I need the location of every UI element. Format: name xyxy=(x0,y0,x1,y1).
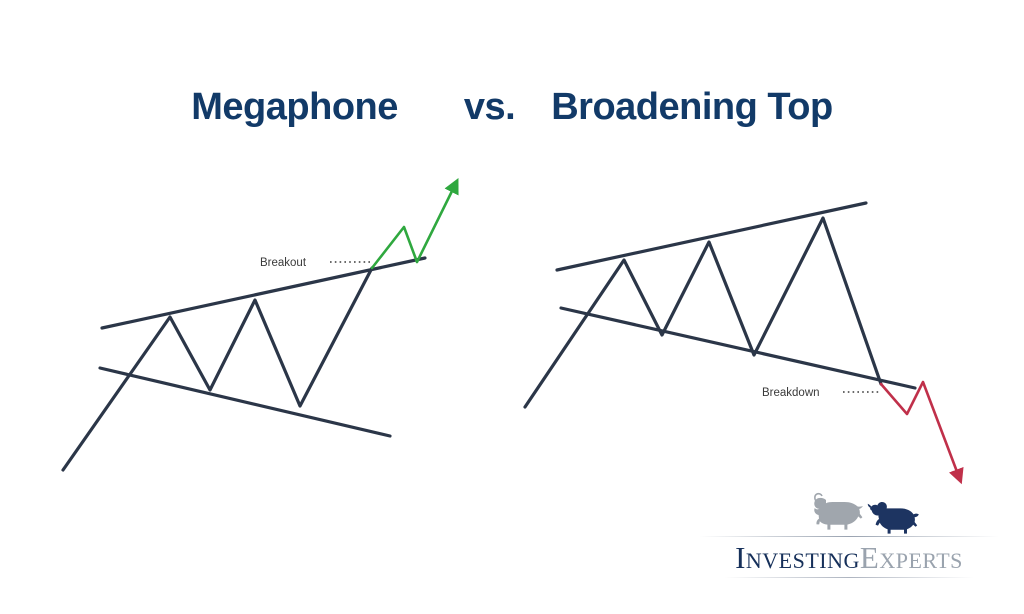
logo-divider-top xyxy=(699,536,999,537)
bear-icon xyxy=(868,502,919,534)
logo-animal-icons xyxy=(684,492,1014,536)
broadening-top-breakdown-arrow xyxy=(881,382,959,477)
logo-word-experts: Experts xyxy=(860,540,963,575)
logo-word-investing: Investing xyxy=(735,540,860,575)
bull-and-bear-icons xyxy=(684,492,1014,536)
diagram-canvas: Megaphonevs.Broadening Top Breakout xyxy=(0,0,1024,614)
broadening-top-upper-trendline xyxy=(557,203,866,270)
megaphone-chart: Breakout xyxy=(63,185,455,470)
brand-logo: InvestingExperts xyxy=(684,492,1014,584)
logo-divider-bottom xyxy=(724,577,974,578)
logo-wordmark: InvestingExperts xyxy=(684,541,1014,575)
broadening-top-breakdown-label: Breakdown xyxy=(762,387,820,399)
bull-icon xyxy=(814,494,863,530)
megaphone-breakout-arrow xyxy=(372,185,455,268)
broadening-top-lower-trendline xyxy=(561,308,915,388)
megaphone-breakout-label: Breakout xyxy=(260,257,307,269)
megaphone-lower-trendline xyxy=(100,368,390,436)
broadening-top-chart: Breakdown xyxy=(525,203,959,477)
